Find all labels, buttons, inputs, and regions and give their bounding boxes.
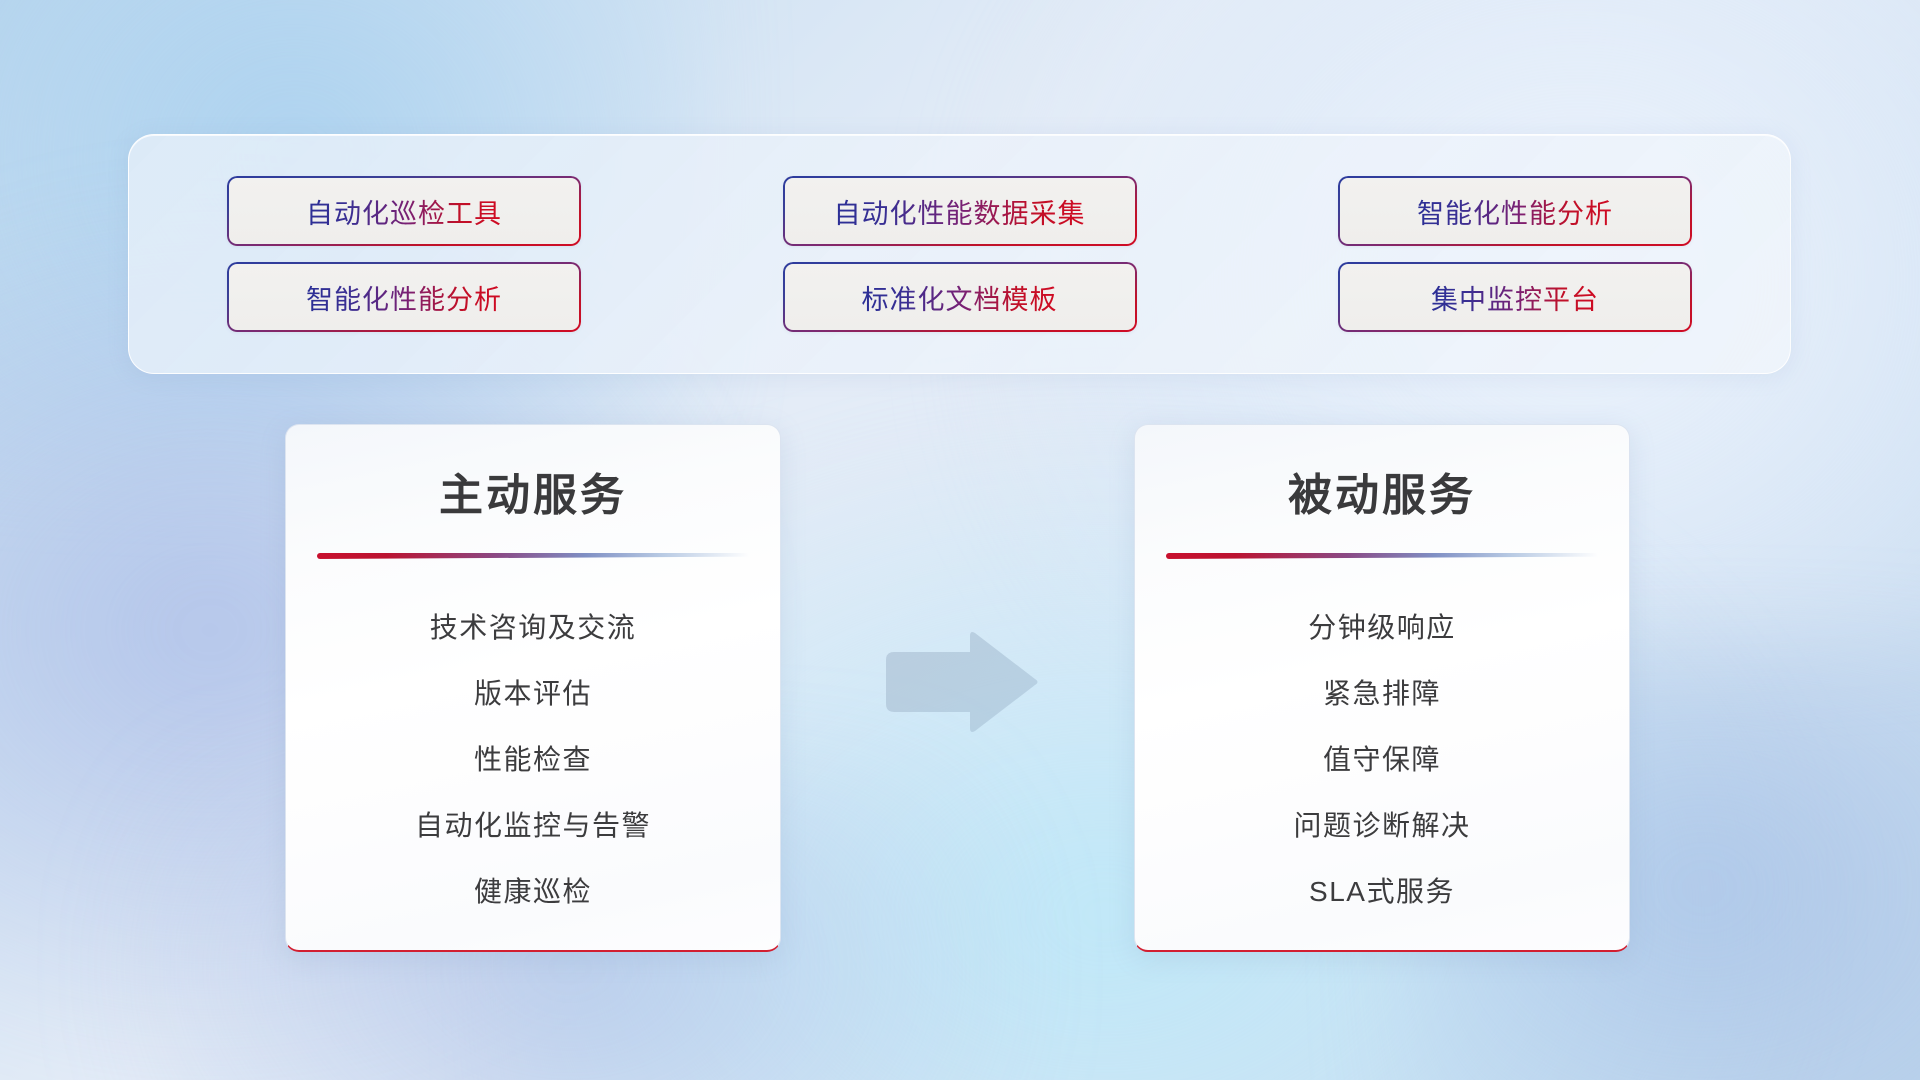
tool-chip-label: 自动化巡检工具 bbox=[306, 192, 502, 231]
tools-row-1: 自动化巡检工具 自动化性能数据采集 智能化性能分析 bbox=[129, 176, 1790, 246]
tool-chip-centralized-monitoring-platform[interactable]: 集中监控平台 bbox=[1338, 262, 1692, 332]
tool-chip-intelligent-performance-analysis[interactable]: 智能化性能分析 bbox=[1338, 176, 1692, 246]
tool-chip-performance-data-collection[interactable]: 自动化性能数据采集 bbox=[783, 176, 1137, 246]
tool-chip-label: 标准化文档模板 bbox=[862, 278, 1058, 317]
tool-chip-label: 自动化性能数据采集 bbox=[834, 192, 1086, 231]
list-item[interactable]: 分钟级响应 bbox=[1135, 593, 1629, 659]
tool-chip-standard-doc-template[interactable]: 标准化文档模板 bbox=[783, 262, 1137, 332]
list-item[interactable]: 值守保障 bbox=[1135, 725, 1629, 791]
tool-chip-intelligent-performance-analysis-2[interactable]: 智能化性能分析 bbox=[227, 262, 581, 332]
card-divider bbox=[317, 553, 749, 559]
service-item-list: 技术咨询及交流 版本评估 性能检查 自动化监控与告警 健康巡检 bbox=[286, 593, 780, 923]
card-title: 主动服务 bbox=[286, 459, 780, 523]
service-item-list: 分钟级响应 紧急排障 值守保障 问题诊断解决 SLA式服务 bbox=[1135, 593, 1629, 923]
list-item[interactable]: 紧急排障 bbox=[1135, 659, 1629, 725]
tool-chip-label: 集中监控平台 bbox=[1431, 278, 1599, 317]
service-card-reactive: 被动服务 分钟级响应 紧急排障 值守保障 问题诊断解决 SLA式服务 bbox=[1134, 424, 1630, 952]
service-card-proactive: 主动服务 技术咨询及交流 版本评估 性能检查 自动化监控与告警 健康巡检 bbox=[285, 424, 781, 952]
tool-chip-label: 智能化性能分析 bbox=[1417, 192, 1613, 231]
tool-chip-label: 智能化性能分析 bbox=[306, 278, 502, 317]
tools-panel: 自动化巡检工具 自动化性能数据采集 智能化性能分析 智能化性能分析 标准化文档模… bbox=[128, 134, 1791, 374]
list-item[interactable]: 自动化监控与告警 bbox=[286, 791, 780, 857]
list-item[interactable]: 版本评估 bbox=[286, 659, 780, 725]
list-item[interactable]: SLA式服务 bbox=[1135, 857, 1629, 923]
card-divider bbox=[1166, 553, 1598, 559]
tools-row-2: 智能化性能分析 标准化文档模板 集中监控平台 bbox=[129, 262, 1790, 332]
flow-arrow-right-icon bbox=[880, 630, 1040, 734]
tool-chip-automated-inspection[interactable]: 自动化巡检工具 bbox=[227, 176, 581, 246]
list-item[interactable]: 技术咨询及交流 bbox=[286, 593, 780, 659]
list-item[interactable]: 健康巡检 bbox=[286, 857, 780, 923]
card-title: 被动服务 bbox=[1135, 459, 1629, 523]
list-item[interactable]: 问题诊断解决 bbox=[1135, 791, 1629, 857]
list-item[interactable]: 性能检查 bbox=[286, 725, 780, 791]
